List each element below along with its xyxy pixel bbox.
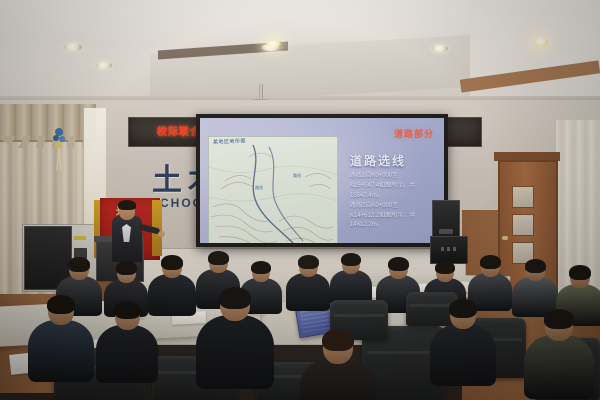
downlight-4-icon — [432, 45, 448, 52]
door-handle-icon[interactable] — [502, 236, 508, 240]
attendee-front-4 — [300, 330, 376, 400]
downlight-5-icon — [266, 41, 281, 47]
attendee-front-6-shoulders — [524, 335, 594, 399]
attendee-front-6 — [524, 310, 594, 400]
door-glass-panel-1 — [512, 186, 534, 208]
attendee-back-6 — [286, 256, 330, 315]
map-caption: 某地区地形图 — [213, 137, 246, 145]
attendee-front-1-shoulders — [28, 320, 94, 382]
attendee-front-1 — [28, 296, 94, 387]
attendee-front-3-hair — [219, 287, 251, 309]
attendee-back-8-hair — [388, 257, 409, 271]
wall-monitor — [430, 236, 468, 264]
attendee-front-2-hair — [114, 301, 141, 319]
slide-surface: 路线 路线 某地区地形图 道路部分 道路选线 路线1自K0+000至K15+54… — [200, 118, 444, 243]
attendee-front-2-shoulders — [96, 325, 158, 383]
attendee-back-5-hair — [251, 261, 271, 274]
attendee-back-9-hair — [435, 261, 455, 274]
downlight-6-icon — [534, 37, 548, 47]
slide-body-line-1: 路线1自K0+000至 — [350, 172, 442, 182]
hanging-decoration-icon — [52, 126, 66, 172]
meeting-room-photo: 土木 学院 SCHOOL NEERING 校际联合 开题答辩 光荣 — [0, 0, 600, 400]
slide-body-line-6: 14612.2m。 — [350, 221, 442, 231]
attendee-back-6-hair — [298, 255, 319, 269]
attendee-front-3-shoulders — [196, 315, 274, 389]
attendee-front-2 — [96, 302, 158, 388]
attendee-front-5-shoulders — [430, 324, 496, 386]
slide-map-image: 路线 路线 某地区地形图 — [208, 136, 338, 243]
slide-body-line-3: 15547.4m。 — [350, 192, 442, 202]
slide-section-title: 道路部分 — [394, 127, 434, 140]
attendee-back-6-shoulders — [286, 273, 330, 311]
attendee-front-5-hair — [449, 299, 477, 318]
monitor-grille-icon — [441, 247, 457, 251]
presenter-hair — [118, 200, 136, 210]
attendee-front-6-hair — [544, 309, 574, 329]
banner-text-left: 校际联合 — [157, 123, 201, 138]
speaker-woofer-icon — [439, 229, 453, 234]
slide-body-line-4: 路线2自K0+000至 — [350, 202, 442, 212]
attendee-back-10-hair — [480, 255, 501, 269]
downlight-2-icon — [96, 62, 112, 69]
attendee-back-12-hair — [569, 265, 591, 280]
attendee-back-2-hair — [116, 261, 137, 275]
attendee-front-4-shoulders — [300, 358, 376, 400]
attendee-front-3 — [196, 288, 274, 395]
svg-text:路线: 路线 — [255, 184, 263, 190]
topographic-map-svg: 路线 路线 — [209, 137, 337, 243]
downlight-1-icon — [64, 43, 82, 51]
attendee-front-5 — [430, 300, 496, 391]
curtain-valance — [0, 104, 96, 142]
projection-screen[interactable]: 路线 路线 某地区地形图 道路部分 道路选线 路线1自K0+000至K15+54… — [196, 114, 448, 247]
attendee-front-4-hair — [322, 329, 354, 351]
ac-display-panel — [74, 236, 86, 240]
door-glass-panel-2 — [512, 214, 534, 236]
slide-body-line-5: K14+612.2如图所示，共 — [350, 212, 442, 222]
slide-body-line-2: K15+547.4如图所示，共 — [350, 182, 442, 192]
attendee-back-11-hair — [525, 259, 546, 273]
svg-text:路线: 路线 — [293, 172, 301, 178]
attendee-back-7-hair — [341, 253, 361, 266]
attendee-back-4-hair — [208, 251, 229, 265]
slide-body-text: 路线1自K0+000至K15+547.4如图所示，共15547.4m。路线2自K… — [350, 172, 442, 231]
attendee-back-1-hair — [68, 257, 90, 272]
presenter-hand — [158, 231, 165, 237]
attendee-back-3-hair — [161, 255, 183, 270]
attendee-front-1-hair — [47, 295, 75, 314]
slide-heading: 道路选线 — [350, 152, 406, 169]
